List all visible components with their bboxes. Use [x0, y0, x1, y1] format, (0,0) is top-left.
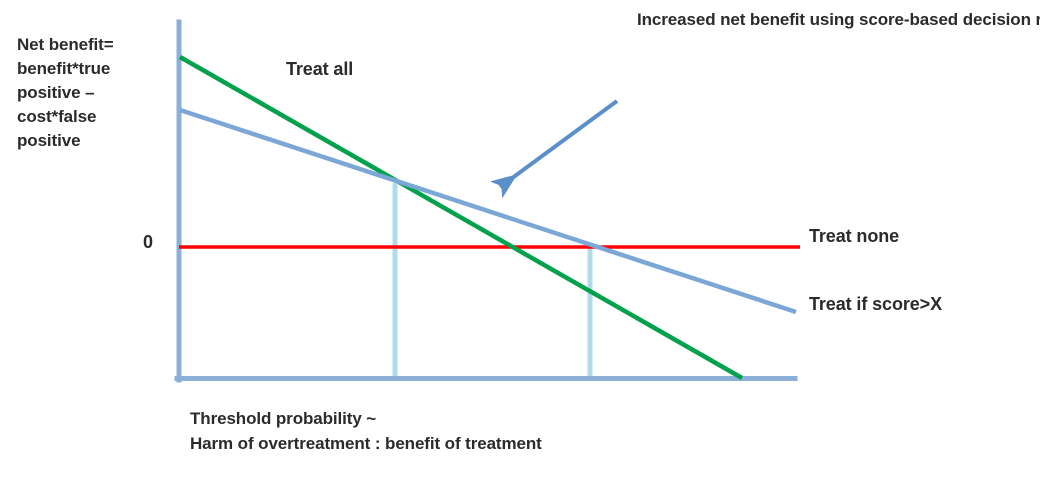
x-axis-label: Threshold probability ~ Harm of overtrea… [190, 406, 660, 456]
series-line-treat-all [180, 57, 742, 378]
series-label-treat-none: Treat none [809, 225, 899, 248]
x-axis-label-line2: Harm of overtreatment : benefit of treat… [190, 434, 542, 453]
y-axis-label: Net benefit= benefit*true positive – cos… [17, 33, 167, 153]
y-axis-zero-tick: 0 [143, 232, 153, 252]
chart-canvas: Net benefit= benefit*true positive – cos… [0, 0, 1040, 482]
series-line-treat-if-score [180, 110, 796, 312]
series-label-treat-if-score: Treat if score>X [809, 293, 942, 316]
series-label-treat-all: Treat all [286, 58, 353, 81]
annotation-arrow [500, 101, 617, 187]
annotation-increased-net-benefit: Increased net benefit using score-based … [637, 8, 1037, 32]
x-axis-label-line1: Threshold probability ~ [190, 409, 376, 428]
